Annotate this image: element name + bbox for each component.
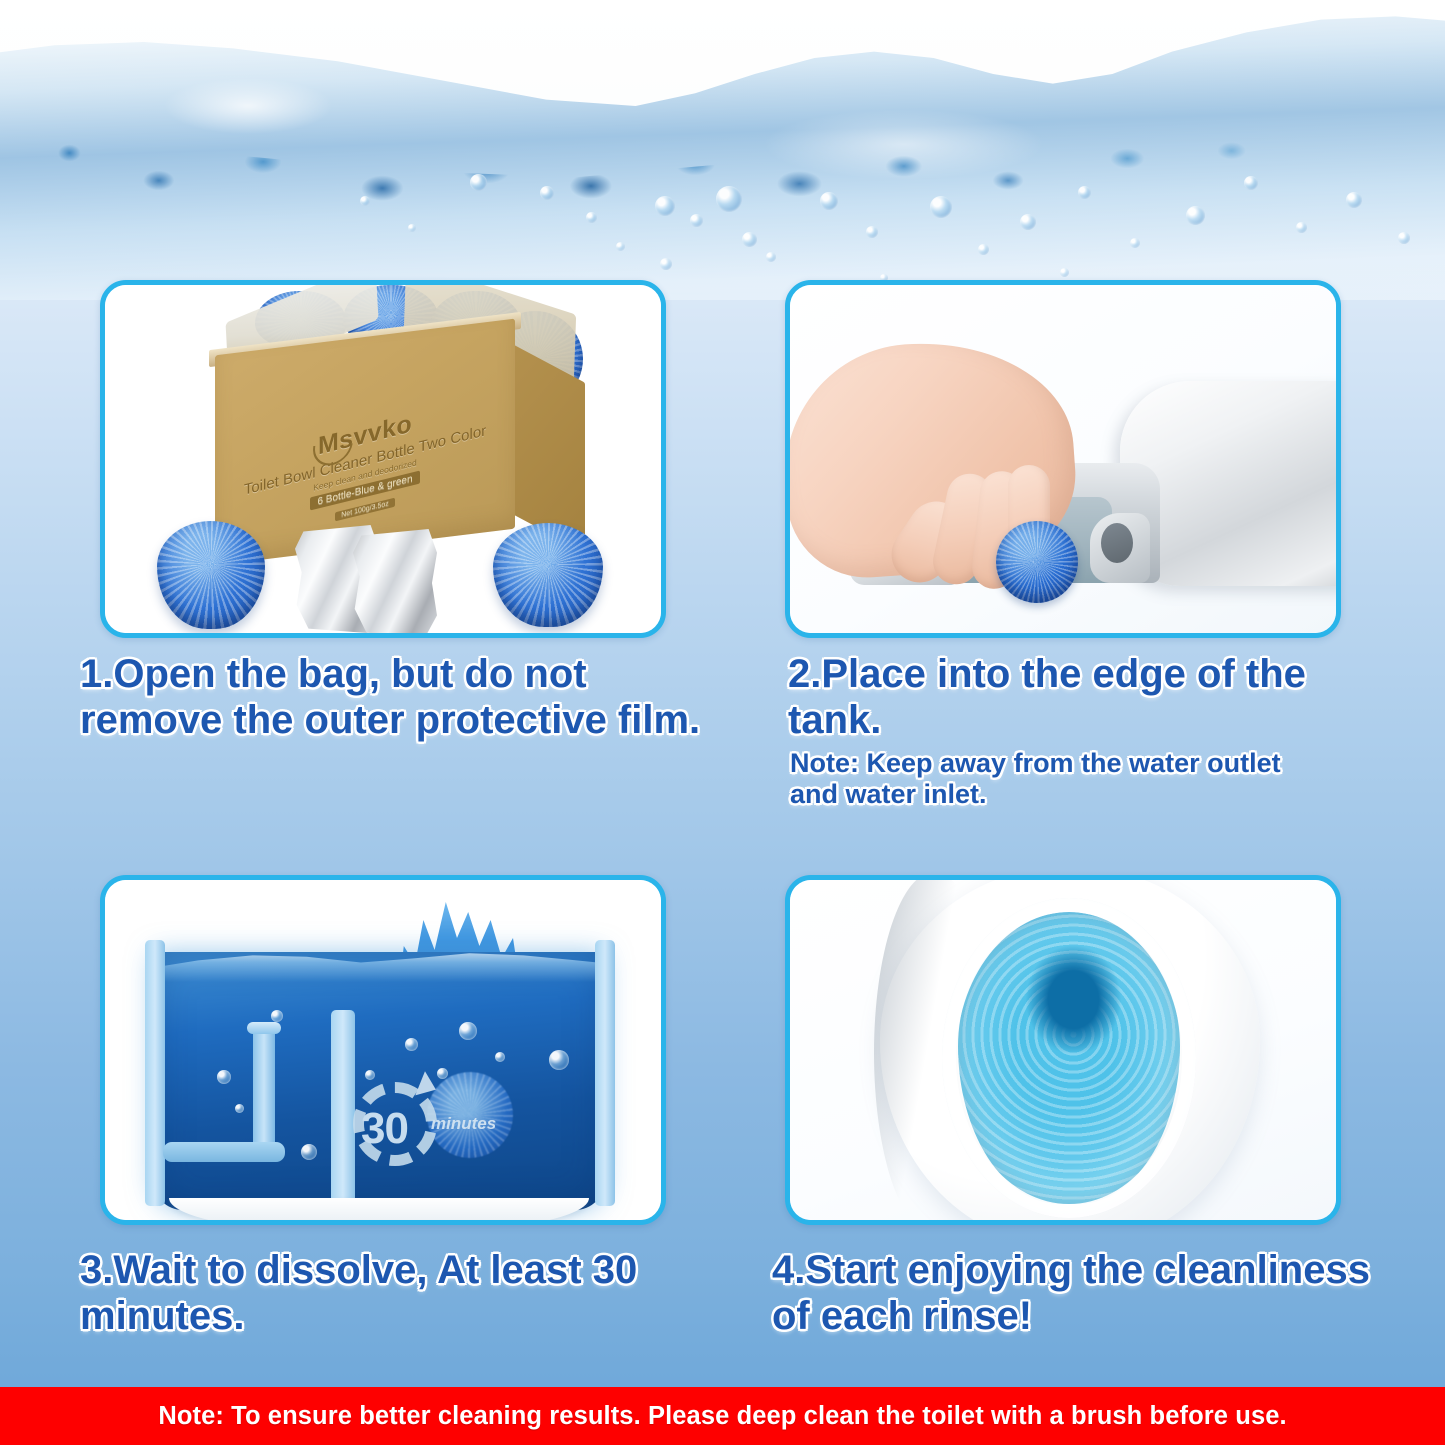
bubble-icon xyxy=(930,196,952,218)
toilet-bowl-inner-rim xyxy=(942,898,1196,1218)
bubble-icon xyxy=(655,196,675,216)
overflow-tube xyxy=(253,1028,275,1156)
product-title-text: Toilet Bowl Cleaner Bottle Two Color xyxy=(215,415,515,506)
step-2-caption: 2.Place into the edge of the tank. xyxy=(788,652,1348,743)
product-subtitle-text: Keep clean and deodorized xyxy=(215,433,515,517)
puck-icon xyxy=(996,521,1078,603)
bubble-icon xyxy=(586,212,597,223)
overflow-tube-foot xyxy=(163,1142,285,1162)
bubble-icon xyxy=(540,186,554,200)
bubble-icon xyxy=(1296,222,1307,233)
bubble-icon xyxy=(405,1038,418,1051)
footer-note-text: Note: To ensure better cleaning results.… xyxy=(158,1402,1286,1431)
bubble-icon xyxy=(742,232,757,247)
toilet-bowl-with-blue-water-image xyxy=(790,880,1336,1220)
bubble-icon xyxy=(716,186,742,212)
timer-unit: minutes xyxy=(431,1114,496,1134)
bubble-icon xyxy=(1186,206,1205,225)
step-2-image-panel xyxy=(785,280,1341,638)
puck-icon xyxy=(493,523,603,627)
bubble-icon xyxy=(301,1144,317,1160)
tank-foot xyxy=(311,1222,341,1225)
bubble-icon xyxy=(1130,238,1140,248)
bubble-icon xyxy=(1398,232,1410,244)
timer-arrow-icon xyxy=(415,1071,441,1101)
tank-left-edge xyxy=(145,940,165,1206)
bubble-icon xyxy=(217,1070,231,1084)
bubble-icon xyxy=(690,214,703,227)
step-4-caption: 4.Start enjoying the cleanliness of each… xyxy=(772,1248,1372,1339)
timer-badge: 30 minutes xyxy=(353,1076,483,1172)
bubble-icon xyxy=(766,252,776,262)
bubble-icon xyxy=(459,1022,477,1040)
water-surface-image xyxy=(0,0,1445,300)
bubble-icon xyxy=(1060,268,1069,277)
footer-note-banner: Note: To ensure better cleaning results.… xyxy=(0,1387,1445,1445)
bubble-icon xyxy=(470,174,487,191)
bubble-icon xyxy=(1244,176,1258,190)
bubble-icon xyxy=(271,1010,283,1022)
bubble-icon xyxy=(660,258,672,270)
step-1-image-panel: Msvvko Toilet Bowl Cleaner Bottle Two Co… xyxy=(100,280,666,638)
tank-foot xyxy=(519,1222,549,1225)
crescent-moon-icon xyxy=(305,416,361,474)
timer-number: 30 xyxy=(361,1104,408,1154)
box-of-toilet-cleaner-pucks-image: Msvvko Toilet Bowl Cleaner Bottle Two Co… xyxy=(105,285,661,633)
bubble-icon xyxy=(360,196,370,206)
step-1-caption: 1.Open the bag, but do not remove the ou… xyxy=(80,652,740,743)
bubble-icon xyxy=(1020,214,1036,230)
flush-valve xyxy=(1090,513,1150,583)
puck-icon xyxy=(157,521,265,629)
tank-cutaway-with-dissolving-puck-image: 30 minutes xyxy=(105,880,661,1220)
step-2-note: Note: Keep away from the water outlet an… xyxy=(790,748,1330,810)
product-netweight-text: Net 100g/3.5oz xyxy=(335,498,394,522)
bubble-icon xyxy=(1078,186,1091,199)
bubble-icon xyxy=(866,226,878,238)
bubble-icon xyxy=(978,244,989,255)
bubble-icon xyxy=(495,1052,505,1062)
tank-foot xyxy=(431,1222,461,1225)
step-3-caption: 3.Wait to dissolve, At least 30 minutes. xyxy=(80,1248,740,1339)
bubble-icon xyxy=(235,1104,244,1113)
hand-placing-puck-in-toilet-tank-image xyxy=(790,285,1336,633)
tank-center-post xyxy=(331,1010,355,1206)
bubble-icon xyxy=(820,192,838,210)
bubble-icon xyxy=(1346,192,1362,208)
bubble-icon xyxy=(408,224,416,232)
step-4-image-panel xyxy=(785,875,1341,1225)
tank-base xyxy=(169,1198,589,1225)
foil-sachet-icon xyxy=(353,529,437,637)
bubble-icon xyxy=(616,242,625,251)
bubble-icon xyxy=(549,1050,569,1070)
product-variant-text: 6 Bottle-Blue & green xyxy=(310,471,419,511)
brand-logo-text: Msvvko xyxy=(215,384,515,487)
step-3-image-panel: 30 minutes xyxy=(100,875,666,1225)
tank-foot xyxy=(211,1222,241,1225)
tank-right-edge xyxy=(595,940,615,1206)
